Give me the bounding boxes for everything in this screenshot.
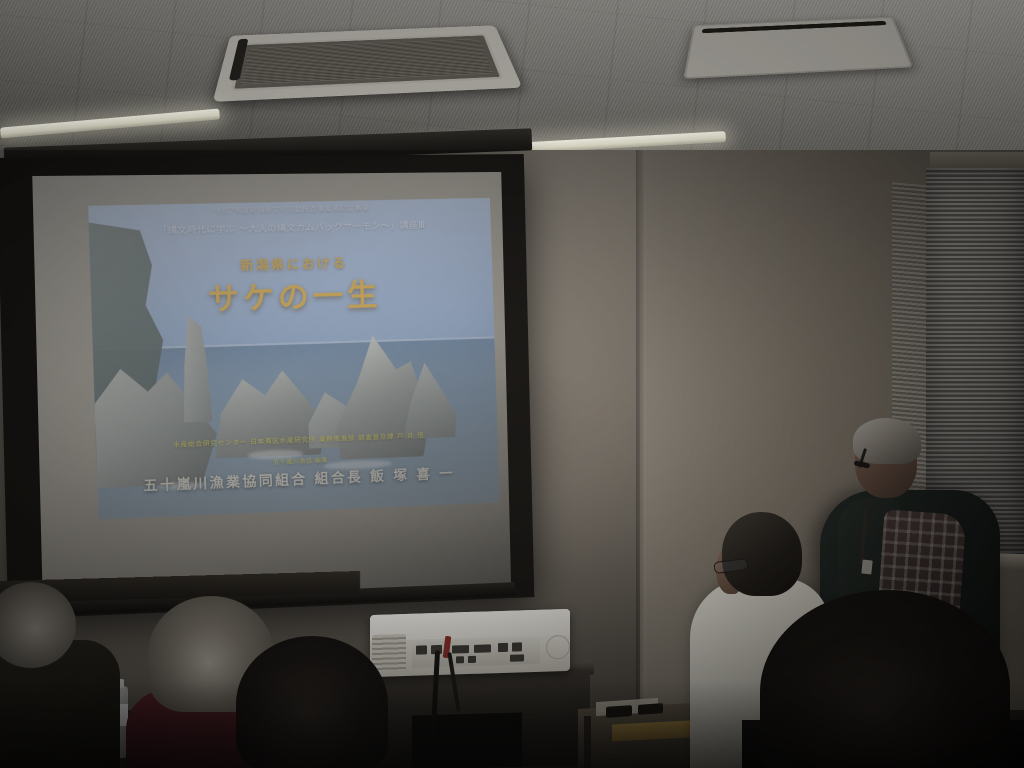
projector-port-audio [512, 642, 522, 651]
ac-frame [231, 34, 504, 92]
projector[interactable] [370, 609, 570, 677]
presentation-slide: 令和7年度新潟県文化活動推進事業補助金事業 「縄文時代に学ぶ 〜大人の縄文カムバ… [88, 198, 500, 520]
projector-port-panel [412, 638, 540, 668]
side-table-leg [584, 716, 591, 768]
lecture-room-photo: 令和7年度新潟県文化活動推進事業補助金事業 「縄文時代に学ぶ 〜大人の縄文カムバ… [0, 0, 1024, 768]
slide-projection-dimming [88, 198, 500, 520]
projector-port-usb [498, 643, 508, 652]
projector-vent [372, 634, 406, 671]
audience-white-shirt-head [722, 512, 802, 596]
wall-corner [636, 150, 646, 710]
remote-control-2[interactable] [638, 703, 663, 715]
projector-port-serial [510, 654, 524, 661]
presenter-name-badge [861, 560, 872, 575]
ac-grille [241, 39, 494, 85]
projector-control-pad[interactable] [546, 635, 570, 660]
remote-control-1[interactable] [606, 705, 632, 718]
projection-screen-surface: 令和7年度新潟県文化活動推進事業補助金事業 「縄文時代に学ぶ 〜大人の縄文カムバ… [32, 172, 511, 601]
projector-port-rca [456, 656, 464, 663]
projector-port-vga [452, 645, 469, 654]
projector-port-lan [416, 645, 427, 654]
projector-port-rca2 [468, 656, 476, 663]
projection-screen: 令和7年度新潟県文化活動推進事業補助金事業 「縄文時代に学ぶ 〜大人の縄文カムバ… [0, 154, 534, 619]
projector-port-hdmi [474, 644, 491, 653]
dark-hair-attendee-head [236, 636, 388, 768]
